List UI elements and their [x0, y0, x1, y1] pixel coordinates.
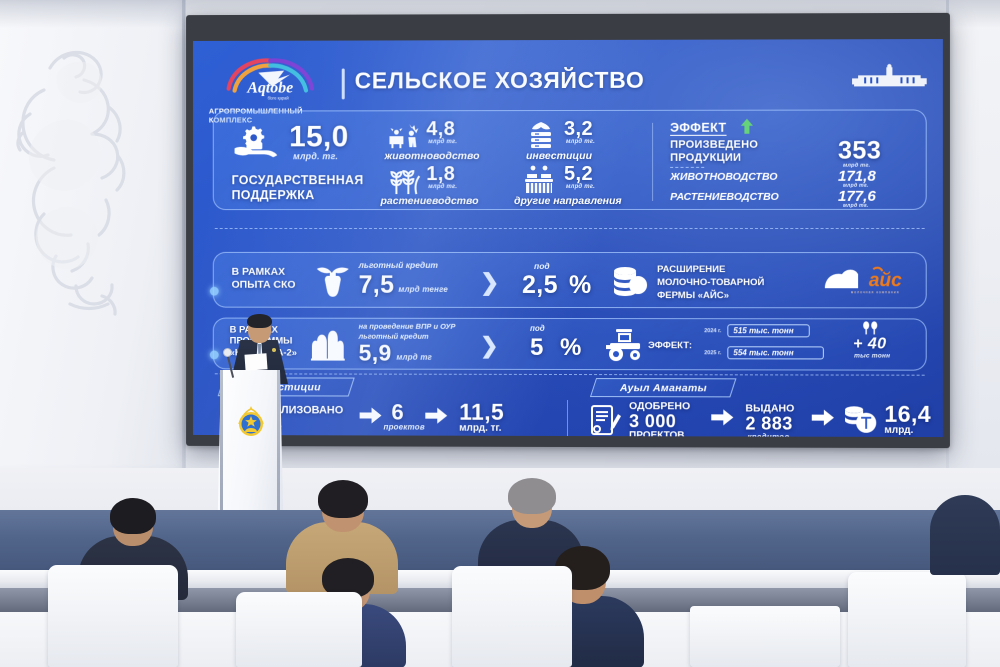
- sko-result-label: РАСШИРЕНИЕ МОЛОЧНО-ТОВАРНОЙ ФЕРМЫ «АЙС»: [657, 264, 764, 303]
- kpi-value-investments: 3,2: [564, 118, 593, 141]
- approved-value: 3 000: [629, 411, 676, 432]
- kpi-label-crops: растениеводство: [381, 195, 479, 207]
- microphone-head: [223, 348, 232, 357]
- kpi-value-livestock: 4,8: [426, 118, 455, 141]
- divider-dashed-1: [215, 228, 925, 229]
- kpi-label-livestock: животноводство: [384, 150, 479, 162]
- kpi-label-other: другие направления: [514, 195, 622, 207]
- arrow-right-icon-4: [812, 410, 834, 431]
- chevron-right-icon-2: ❯: [480, 333, 498, 359]
- kpi-unit-crops: млрд тг.: [428, 184, 457, 190]
- kpi-label-investments: инвестиции: [526, 150, 592, 162]
- sko-credit-unit: млрд тенге: [398, 285, 448, 294]
- hand-holding-gear-icon: [234, 123, 280, 159]
- title-divider: [342, 68, 344, 99]
- aqtobe-logo: Aqtobe бізге қарай: [219, 57, 322, 103]
- presenter-hair: [247, 314, 272, 328]
- issued-value: 2 883: [745, 413, 792, 434]
- issued-unit: кредитов: [747, 433, 789, 438]
- chair-3: [452, 566, 572, 667]
- svg-text:Aqtobe: Aqtobe: [246, 80, 293, 97]
- kpi-unit-livestock: млрд тг.: [428, 139, 457, 145]
- approved-unit: ПРОЕКТОВ: [629, 430, 685, 437]
- arrow-right-icon-3: [711, 409, 733, 430]
- effect-item-label-crops: РАСТЕНИЕВОДСТВО: [670, 191, 779, 203]
- presentation-display-frame: Aqtobe бізге қарай АГРОПРОМЫШЛЕННЫЙ КОМП…: [186, 13, 950, 448]
- ken-dala-rate-percent: %: [560, 334, 582, 362]
- presenter-lapel-pin: [272, 348, 276, 352]
- sko-tag: В РАМКАХ ОПЫТА СКО: [232, 266, 296, 291]
- ken-dala-credit-unit: млрд тг: [396, 353, 432, 362]
- slide-title: СЕЛЬСКОЕ ХОЗЯЙСТВО: [355, 67, 645, 95]
- audience-4-hair: [508, 478, 556, 514]
- bar-accent-dot-2: [210, 350, 219, 359]
- kpi-card-row1: 15,0 млрд. тг. ГОСУДАРСТВЕННАЯ ПОДДЕРЖКА: [213, 109, 927, 210]
- ais-company-logo: айс молочная компания: [823, 264, 916, 296]
- wall-seam-left: [182, 0, 185, 470]
- sko-experience-card: В РАМКАХ ОПЫТА СКО льготный кредит 7,5 м…: [213, 252, 927, 308]
- effect-year-1: 2024 г.: [704, 328, 721, 334]
- kpi-unit-support: млрд. тг.: [293, 151, 338, 161]
- up-arrow-green-icon: [740, 119, 753, 139]
- arrow-right-icon-1: [360, 407, 382, 428]
- section-divider: [652, 123, 653, 201]
- bottom-metrics-row: Инвестиции РЕАЛИЗОВАНО: [213, 377, 927, 431]
- ken-dala-credit-value: 5,9: [359, 340, 392, 367]
- sko-rate-value: 2,5: [522, 271, 558, 300]
- effect-item-unit-crops: млрд тг.: [843, 203, 868, 209]
- effect-year-2: 2025 г.: [704, 350, 721, 356]
- bottom-divider: [567, 400, 568, 437]
- cow-head-icon: [316, 265, 350, 297]
- chevron-right-icon-1: ❯: [480, 269, 499, 296]
- sko-credit-value: 7,5: [359, 271, 395, 300]
- effect-main-label: ПРОИЗВЕДЕНО ПРОДУКЦИИ: [670, 139, 758, 165]
- svg-text:айс: айс: [869, 270, 902, 291]
- bar-accent-dot: [210, 287, 219, 296]
- grain-icon: [860, 321, 880, 335]
- chair-4: [848, 572, 966, 667]
- effect-main-value: 353: [838, 137, 881, 166]
- ribbon-auyl-amanaty: Ауыл Аманаты: [590, 378, 737, 397]
- ken-dala-rate-caption: под: [530, 324, 545, 333]
- kazakhstan-coat-of-arms-icon: [235, 406, 267, 440]
- kpi-unit-investments: млрд тг.: [566, 139, 595, 145]
- effect-dot-divider: [670, 167, 704, 168]
- investments-amount-unit: млрд. тг.: [459, 423, 501, 435]
- kpi-unit-other: млрд тг.: [566, 184, 595, 190]
- conference-room: Aqtobe бізге қарай АГРОПРОМЫШЛЕННЫЙ КОМП…: [0, 0, 1000, 667]
- sko-credit-caption: льготный кредит: [359, 260, 438, 270]
- speech-papers: [244, 353, 267, 370]
- svg-text:молочная компания: молочная компания: [851, 290, 900, 294]
- audience-1-hair: [110, 498, 156, 534]
- kpi-value-other: 5,2: [564, 163, 593, 186]
- chair-2: [236, 592, 362, 667]
- effect-item-label-livestock: ЖИВОТНОВОДСТВО: [670, 171, 777, 183]
- investments-count-unit: проектов: [383, 423, 424, 432]
- wheat-icon: [388, 165, 420, 195]
- sko-rate-caption: под: [534, 261, 550, 271]
- snow-leopard-relief-ornament: [6, 28, 176, 333]
- livestock-icon: [387, 122, 421, 150]
- kpi-label-support: ГОСУДАРСТВЕННАЯ ПОДДЕРЖКА: [232, 173, 364, 202]
- effect-title: ЭФФЕКТ: [670, 121, 726, 135]
- svg-text:бізге қарай: бізге қарай: [268, 96, 290, 101]
- document-pen-icon-right: [589, 404, 621, 437]
- kpi-value-crops: 1,8: [426, 163, 455, 186]
- ken-dala-program-card: В РАМКАХ ПРОГРАММЫ «КЕН ДАЛА-2»: [213, 318, 927, 371]
- effect-delta-value: + 40: [853, 335, 886, 353]
- front-desk-right: [690, 606, 840, 667]
- tractor-icon: [604, 327, 646, 363]
- ken-dala-caption-1: на проведение ВПР и ОУР: [359, 322, 456, 331]
- coins-icon: [612, 265, 648, 297]
- ken-dala-effect-label: ЭФФЕКТ:: [648, 340, 692, 351]
- investment-money-icon: [526, 121, 556, 151]
- effect-value-box-1: 515 тыс. тонн: [727, 324, 809, 337]
- effect-value-box-2: 554 тыс. тонн: [727, 346, 824, 359]
- government-building-emblem-icon: [852, 63, 927, 89]
- grain-elevator-icon: [311, 329, 345, 361]
- audience-2-hair: [318, 480, 368, 518]
- audience-member-6: [930, 495, 1000, 575]
- kpi-value-support: 15,0: [289, 120, 349, 154]
- other-directions-icon: [522, 164, 556, 194]
- coins-tenge-icon: [843, 405, 877, 435]
- sko-rate-percent: %: [569, 271, 592, 300]
- issued-amount-unit: млрд. тг.: [884, 425, 926, 437]
- effect-delta-unit: тыс тонн: [854, 352, 890, 359]
- arrow-right-icon-2: [425, 408, 447, 429]
- presentation-slide: Aqtobe бізге қарай АГРОПРОМЫШЛЕННЫЙ КОМП…: [193, 39, 943, 437]
- ken-dala-rate-value: 5: [530, 334, 544, 362]
- chair-1: [48, 565, 178, 667]
- divider-dashed-2: [215, 373, 925, 375]
